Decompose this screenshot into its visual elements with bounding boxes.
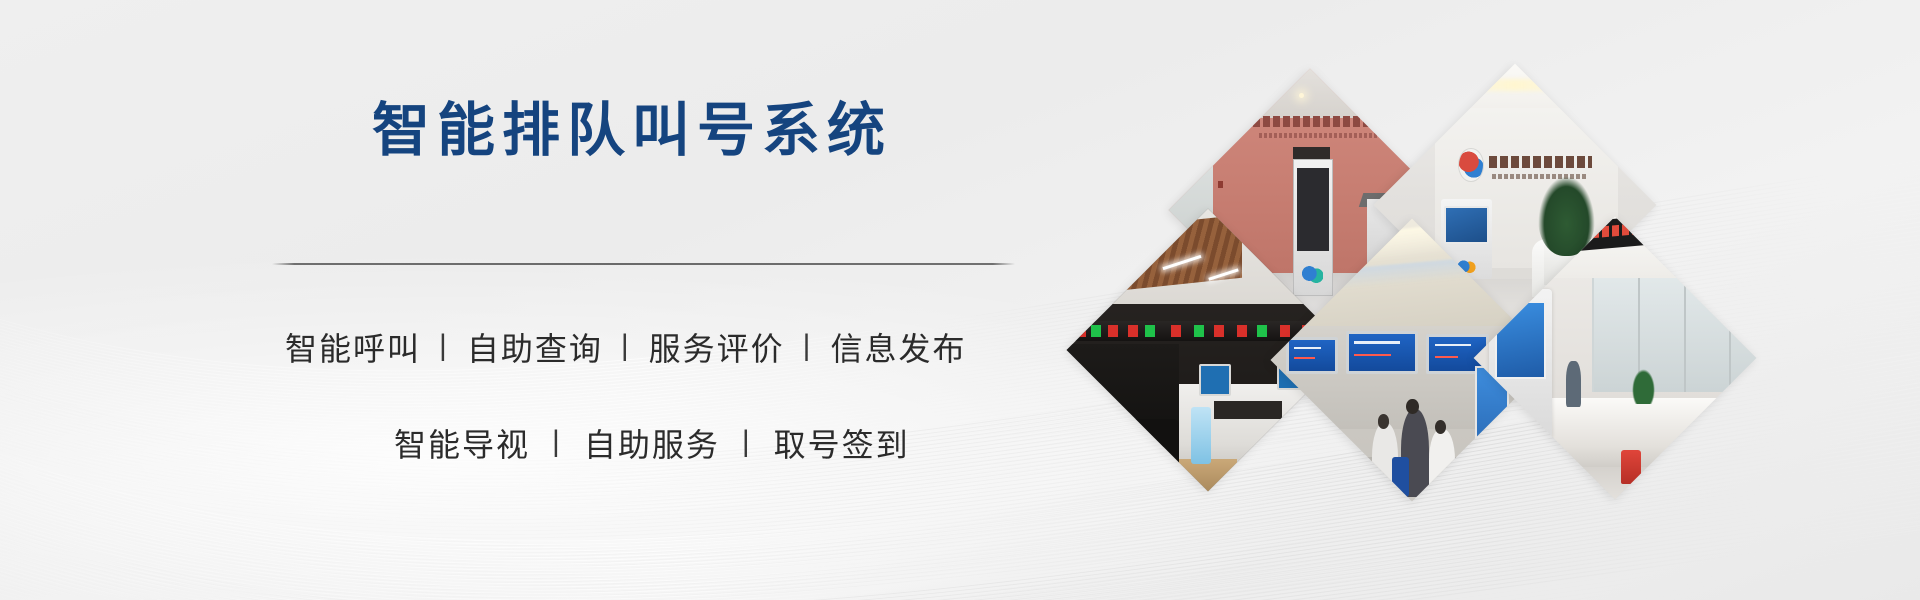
feature-separator: | bbox=[423, 329, 465, 363]
feature-row-secondary: 智能导视 | 自助服务 | 取号签到 bbox=[392, 420, 912, 466]
feature-separator: | bbox=[532, 425, 582, 459]
feature-item-self-service: 自助服务 bbox=[582, 420, 722, 466]
feature-item-self-service-query: 自助查询 bbox=[465, 324, 605, 370]
feature-item-service-evaluation: 服务评价 bbox=[647, 324, 787, 370]
feature-separator: | bbox=[605, 329, 647, 363]
feature-item-intelligent-calling: 智能呼叫 bbox=[283, 324, 423, 370]
feature-item-intelligent-guidance: 智能导视 bbox=[392, 420, 532, 466]
page-title: 智能排队叫号系统 bbox=[372, 98, 892, 165]
feature-separator: | bbox=[787, 329, 829, 363]
feature-item-information-release: 信息发布 bbox=[828, 324, 968, 370]
feature-row-primary: 智能呼叫 | 自助查询 | 服务评价 | 信息发布 bbox=[283, 324, 968, 370]
diamond-photo-collage bbox=[1080, 100, 1740, 480]
feature-separator: | bbox=[722, 425, 772, 459]
feature-item-ticket-checkin: 取号签到 bbox=[772, 420, 912, 466]
text-block: 智能排队叫号系统 智能呼叫 | 自助查询 | 服务评价 | 信息发布 智能导视 … bbox=[0, 0, 1080, 600]
banner-root: 智能排队叫号系统 智能呼叫 | 自助查询 | 服务评价 | 信息发布 智能导视 … bbox=[0, 0, 1920, 600]
title-divider bbox=[272, 263, 1015, 265]
